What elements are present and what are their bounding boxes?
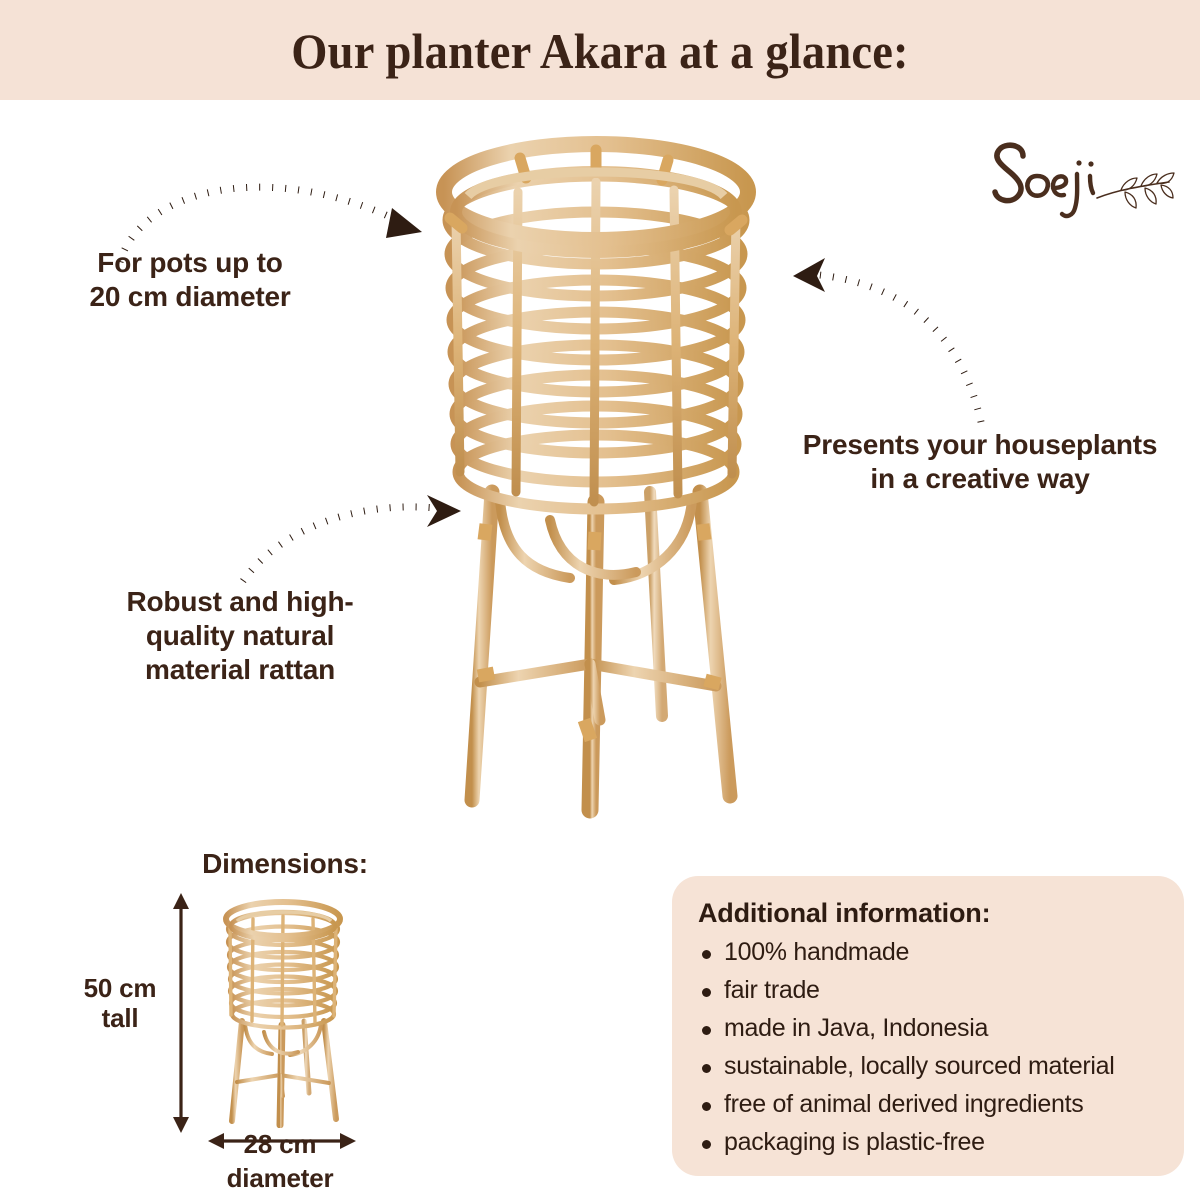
annotation-material-line1: Robust and high- [95, 585, 385, 619]
height-dimension-value: 50 cm [78, 974, 162, 1004]
list-item: packaging is plastic-free [698, 1128, 1158, 1157]
additional-information-list: 100% handmade fair trade made in Java, I… [698, 938, 1158, 1157]
product-photo-main [400, 120, 820, 820]
list-item: made in Java, Indonesia [698, 1014, 1158, 1043]
additional-information-heading: Additional information: [698, 898, 1158, 929]
arrow-to-basket-right [785, 252, 1015, 427]
brand-logo [985, 128, 1185, 233]
page-title: Our planter Akara at a glance: [42, 22, 1158, 80]
dimensions-title: Dimensions: [120, 848, 450, 880]
annotation-presentation: Presents your houseplants in a creative … [780, 428, 1180, 496]
annotation-presentation-line2: in a creative way [780, 462, 1180, 496]
annotation-presentation-line1: Presents your houseplants [780, 428, 1180, 462]
annotation-pot-size: For pots up to 20 cm diameter [30, 246, 350, 314]
annotation-pot-size-line2: 20 cm diameter [30, 280, 350, 314]
infographic-canvas: Our planter Akara at a glance: [0, 0, 1200, 1200]
annotation-material-line2: quality natural [95, 619, 385, 653]
annotation-material: Robust and high- quality natural materia… [95, 585, 385, 687]
annotation-material-line3: material rattan [95, 653, 385, 687]
width-dimension-label: 28 cm diameter [190, 1128, 370, 1196]
height-dimension-label: 50 cm tall [78, 974, 162, 1034]
annotation-pot-size-line1: For pots up to [30, 246, 350, 280]
list-item: free of animal derived ingredients [698, 1090, 1158, 1119]
list-item: sustainable, locally sourced material [698, 1052, 1158, 1081]
height-dimension-arrow [168, 893, 194, 1133]
list-item: fair trade [698, 976, 1158, 1005]
list-item: 100% handmade [698, 938, 1158, 967]
leaf-branch-icon [985, 128, 1185, 233]
product-photo-small [208, 893, 360, 1128]
additional-information-box: Additional information: 100% handmade fa… [672, 876, 1184, 1176]
width-dimension-value: 28 cm [190, 1128, 370, 1162]
width-dimension-unit: diameter [190, 1162, 370, 1196]
arrow-to-legs [235, 485, 470, 590]
height-dimension-unit: tall [78, 1004, 162, 1034]
